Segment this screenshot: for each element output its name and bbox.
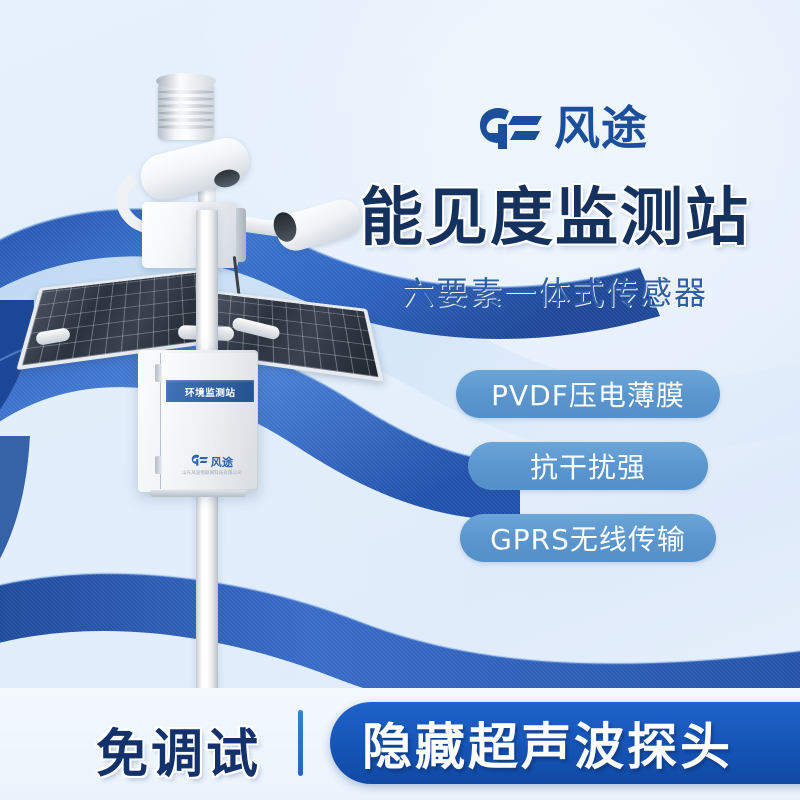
radiation-shield-louvers — [158, 90, 214, 140]
brand-lockup: 风途 — [478, 105, 648, 151]
feature-pill-anti-interference: 抗干扰强 — [468, 442, 708, 490]
cabinet-label-text: 环境监测站 — [185, 384, 235, 398]
equipment-cabinet: 环境监测站 风途 山东风途物联网科技有限公司 — [138, 350, 258, 492]
cabinet-base — [150, 490, 246, 497]
banner-highlight-pill: 隐藏超声波探头 — [330, 702, 800, 784]
feature-pill-list: PVDF压电薄膜 抗干扰强 GPRS无线传输 — [448, 370, 738, 586]
product-poster: 环境监测站 风途 山东风途物联网科技有限公司 风途 能见度监测站 六要素一体式 — [0, 0, 800, 800]
cabinet-label-band: 环境监测站 — [166, 380, 254, 402]
bottom-banner: 免调试 隐藏超声波探头 — [0, 688, 800, 800]
visibility-probe-left — [136, 133, 254, 204]
banner-left-text: 免调试 — [96, 712, 261, 787]
fengtu-gf-logo-icon — [478, 105, 544, 151]
feature-pill-pvdf: PVDF压电薄膜 — [456, 370, 720, 418]
brand-name: 风途 — [554, 105, 648, 151]
page-title: 能见度监测站 — [330, 185, 780, 251]
fengtu-gf-logo-icon — [191, 454, 209, 466]
cabinet-hinge-top — [155, 364, 162, 382]
page-subtitle: 六要素一体式传感器 — [330, 268, 780, 314]
cabinet-hinge-bottom — [155, 456, 162, 474]
cabinet-company-text: 山东风途物联网科技有限公司 — [166, 470, 258, 476]
feature-pill-gprs: GPRS无线传输 — [460, 514, 716, 562]
product-image: 环境监测站 风途 山东风途物联网科技有限公司 — [0, 60, 400, 700]
sensor-junction-box — [142, 202, 238, 268]
cabinet-logo-text: 风途 — [211, 456, 234, 469]
banner-divider — [298, 710, 303, 776]
banner-pill-text: 隐藏超声波探头 — [362, 707, 733, 779]
cabinet-brand-logo: 风途 — [170, 454, 254, 470]
